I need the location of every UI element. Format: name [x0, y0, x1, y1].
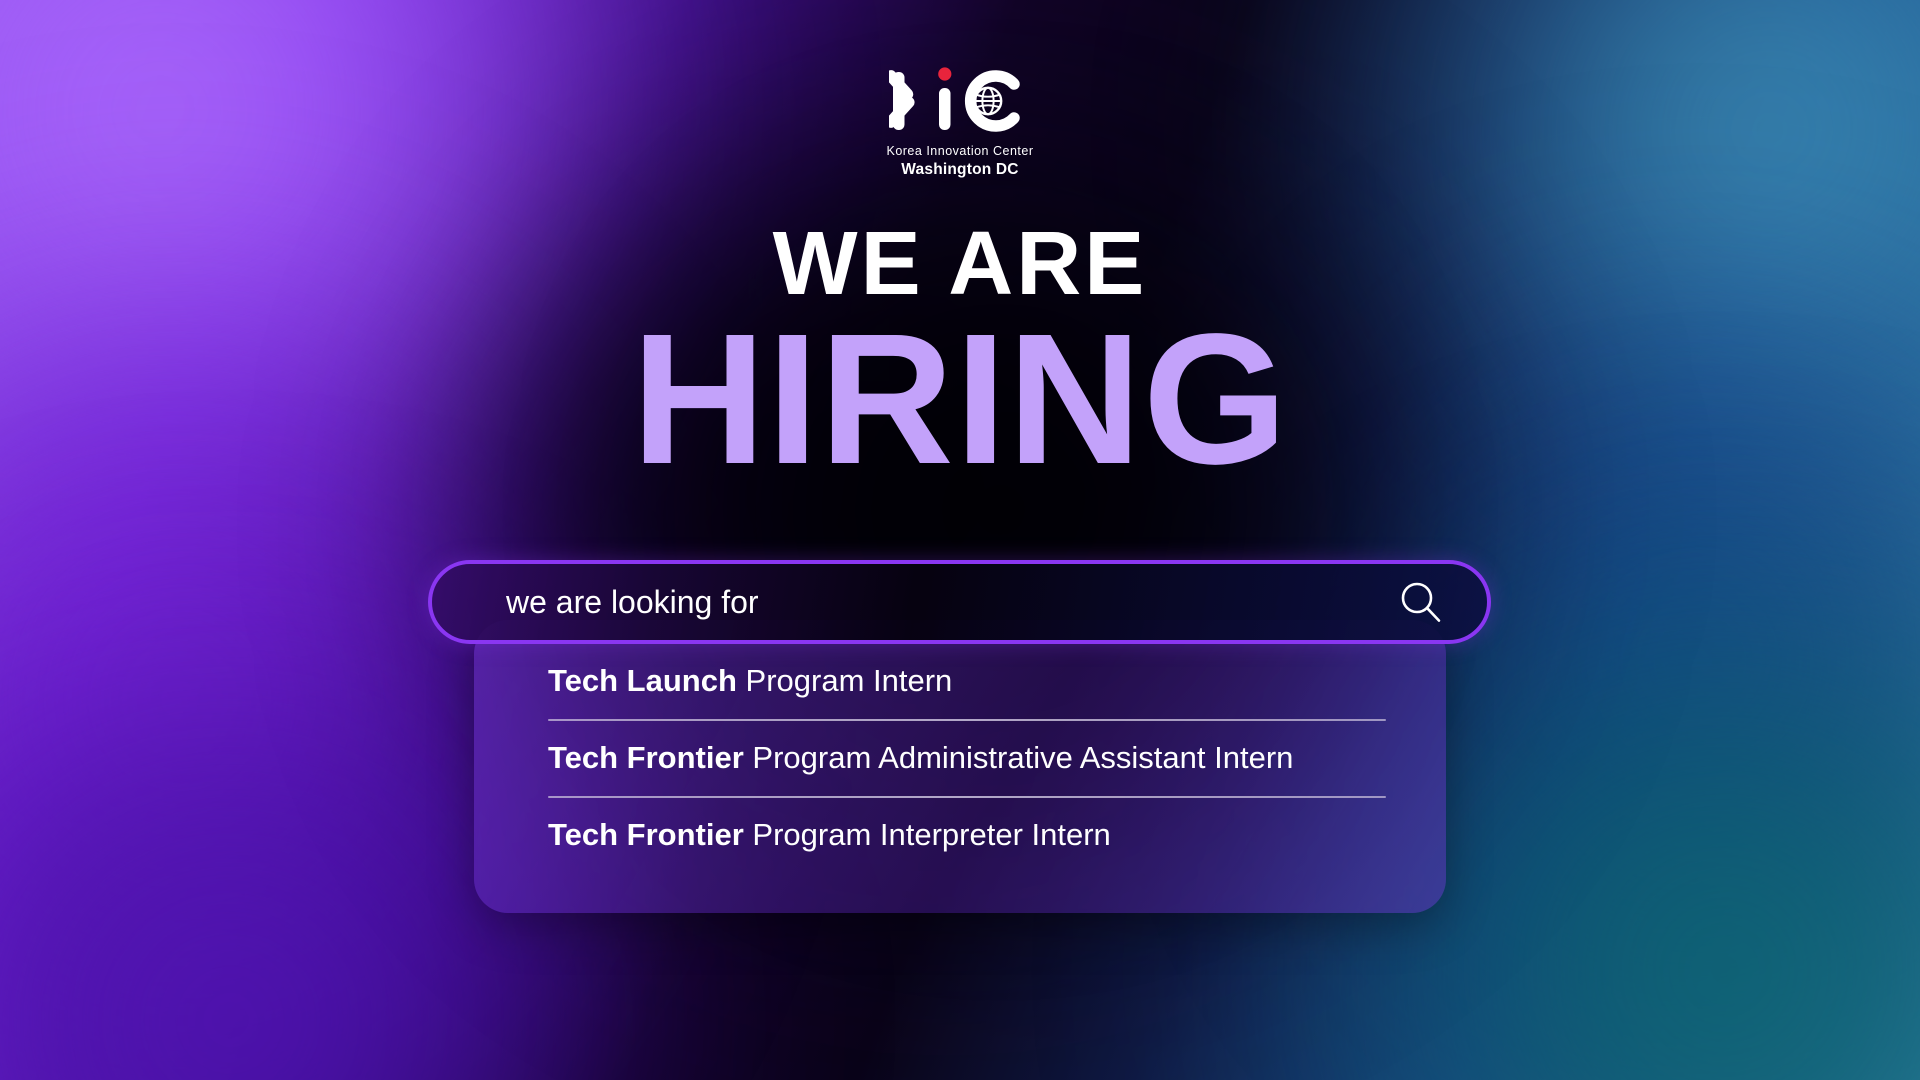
list-item-bold: Tech Frontier — [548, 817, 744, 852]
list-divider — [548, 796, 1386, 798]
headline-we-are: WE ARE — [0, 222, 1920, 308]
headline-block: WE ARE HIRING — [0, 222, 1920, 485]
globe-icon — [975, 88, 1001, 114]
headline-hiring: HIRING — [0, 314, 1920, 485]
search-icon — [1398, 579, 1444, 625]
kic-logo: Korea Innovation Center Washington DC — [0, 62, 1920, 179]
search-bar[interactable] — [428, 560, 1491, 644]
logo-subtitle-line1: Korea Innovation Center — [886, 144, 1033, 158]
list-item[interactable]: Tech Launch Program Intern — [548, 650, 1386, 713]
search-results-list: Tech Launch Program Intern Tech Frontier… — [548, 650, 1386, 867]
list-item-bold: Tech Frontier — [548, 740, 744, 775]
list-item-rest: Program Intern — [737, 663, 952, 698]
search-input[interactable] — [504, 583, 1395, 622]
search-results-panel: Tech Launch Program Intern Tech Frontier… — [474, 620, 1446, 913]
logo-subtitle-line2: Washington DC — [901, 161, 1018, 179]
list-item-bold: Tech Launch — [548, 663, 737, 698]
list-item-rest: Program Interpreter Intern — [744, 817, 1111, 852]
search-button[interactable] — [1395, 576, 1447, 628]
list-divider — [548, 719, 1386, 721]
kic-logo-svg — [889, 62, 1031, 140]
red-dot-icon — [938, 67, 951, 80]
list-item[interactable]: Tech Frontier Program Administrative Ass… — [548, 727, 1386, 790]
list-item[interactable]: Tech Frontier Program Interpreter Intern — [548, 804, 1386, 867]
kic-logo-mark — [889, 62, 1031, 140]
list-item-rest: Program Administrative Assistant Intern — [744, 740, 1294, 775]
poster-canvas: Korea Innovation Center Washington DC WE… — [0, 0, 1920, 1080]
